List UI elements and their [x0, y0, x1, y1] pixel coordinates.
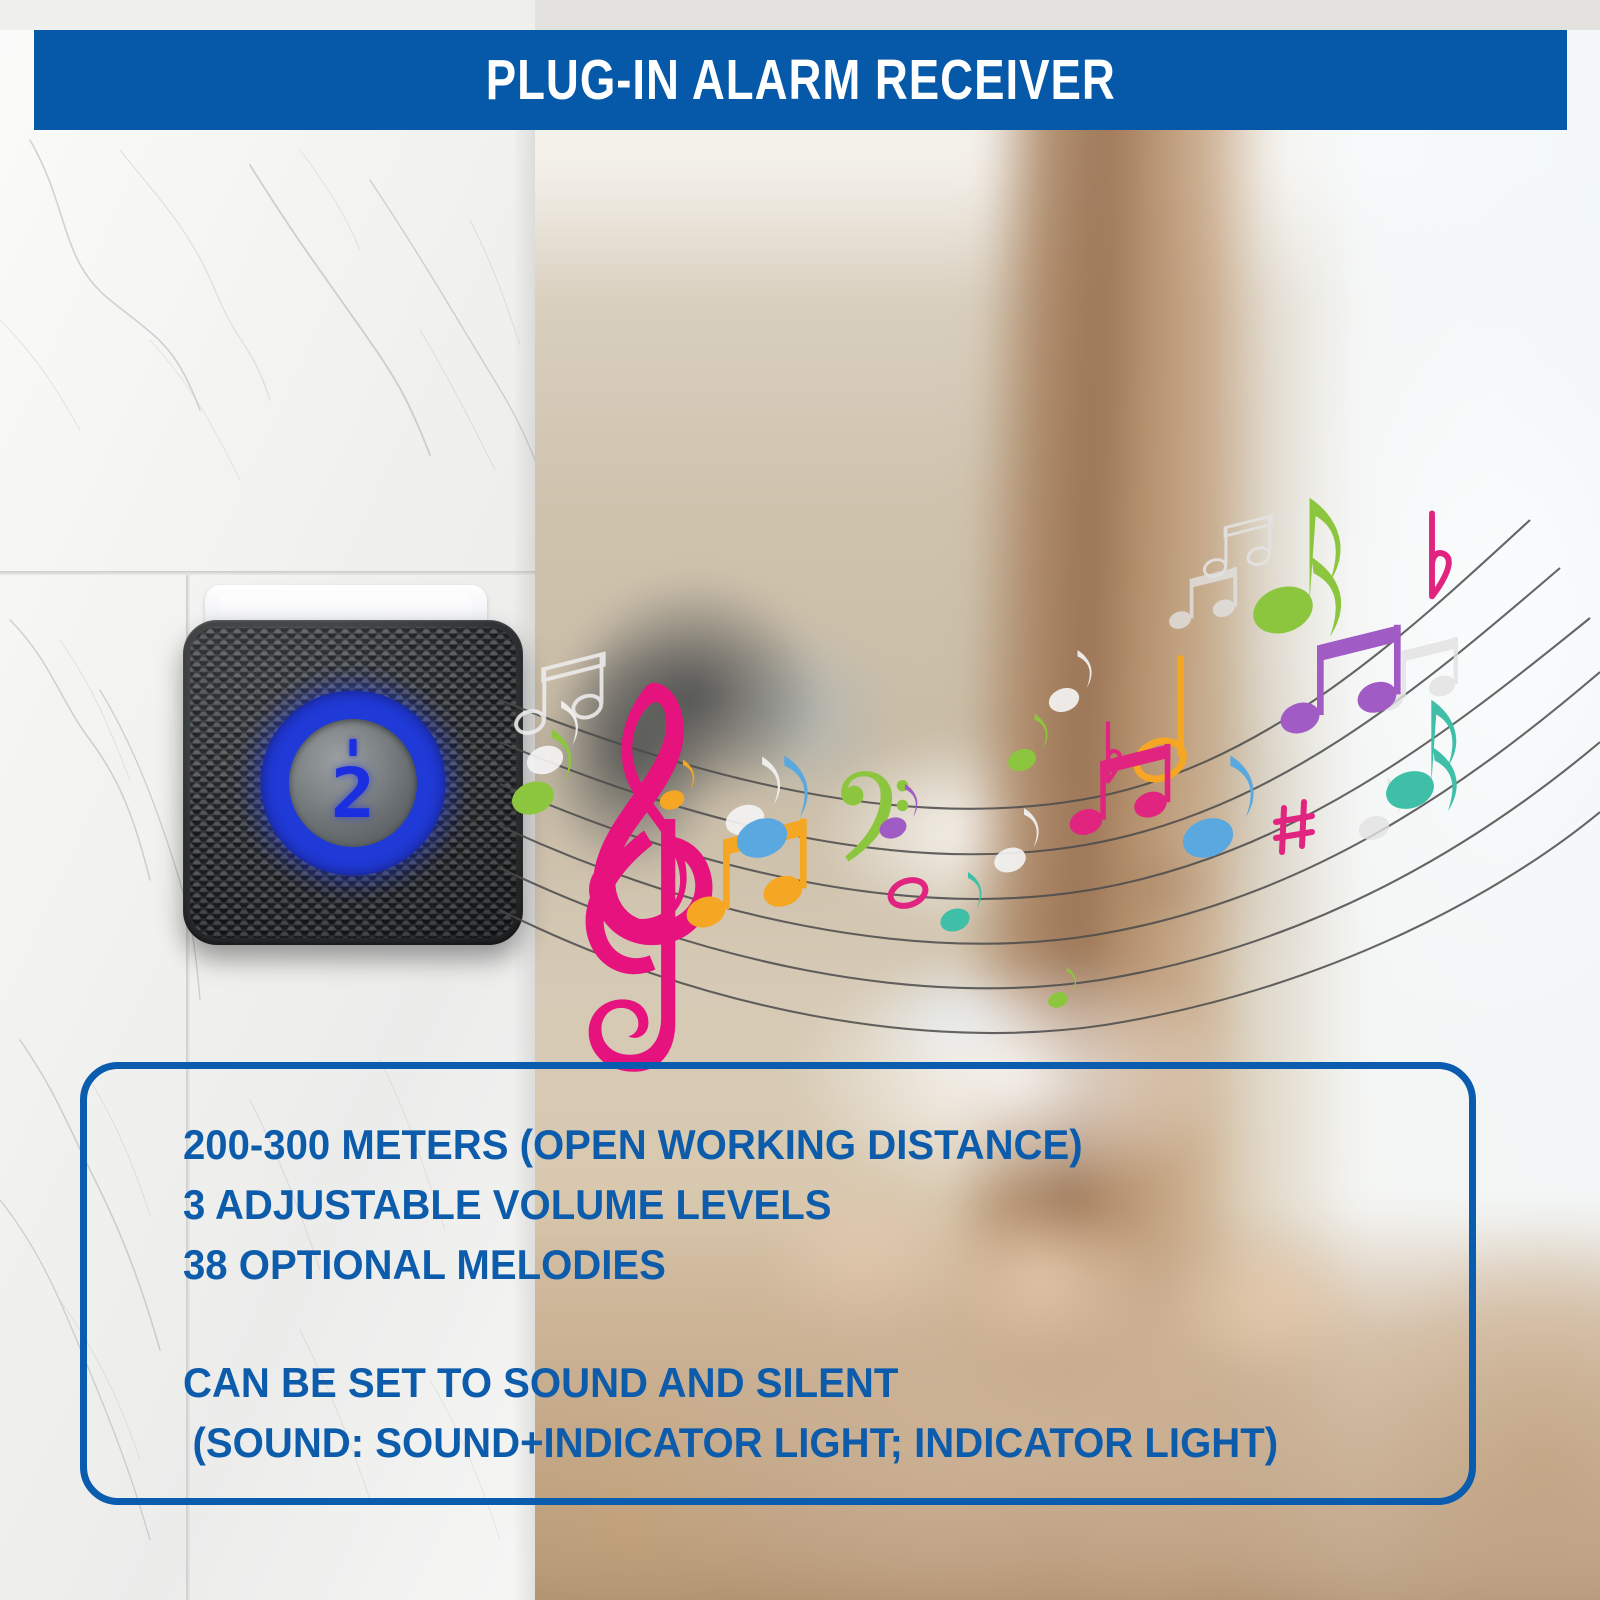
display-volume-digit: 2 — [317, 759, 389, 830]
device-display[interactable]: 2 — [289, 719, 417, 847]
feature-line-2: 3 ADJUSTABLE VOLUME LEVELS — [183, 1175, 1411, 1235]
feature-line-1: 200-300 METERS (OPEN WORKING DISTANCE) — [183, 1115, 1411, 1175]
top-strip — [0, 0, 1600, 30]
features-info-box: 200-300 METERS (OPEN WORKING DISTANCE) 3… — [80, 1062, 1476, 1505]
device-body: 2 — [183, 620, 523, 945]
page-title: PLUG-IN ALARM RECEIVER — [486, 47, 1116, 113]
product-banner: PLUG-IN ALARM RECEIVER 2 — [0, 0, 1600, 1600]
feature-line-5: (SOUND: SOUND+INDICATOR LIGHT; INDICATOR… — [183, 1413, 1411, 1473]
feature-line-4: CAN BE SET TO SOUND AND SILENT — [183, 1353, 1411, 1413]
header-banner: PLUG-IN ALARM RECEIVER — [34, 30, 1567, 130]
feature-line-3: 38 OPTIONAL MELODIES — [183, 1235, 1411, 1295]
feature-spacer — [183, 1295, 1469, 1353]
plug-in-alarm-receiver-device[interactable]: 2 — [183, 585, 523, 945]
tile-grout-horizontal — [0, 571, 535, 575]
